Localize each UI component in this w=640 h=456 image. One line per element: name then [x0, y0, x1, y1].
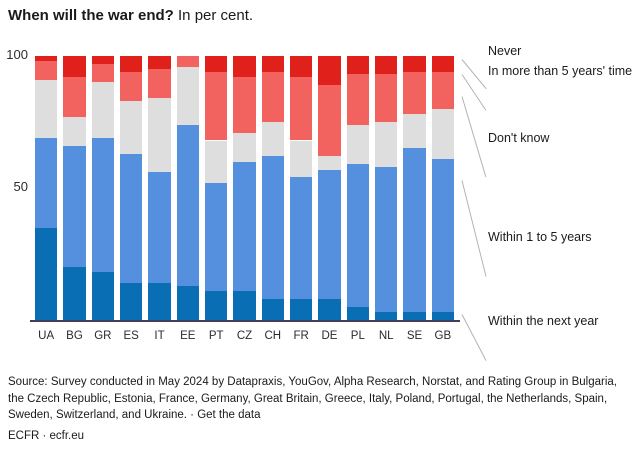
- segment-don-t-know: [318, 156, 341, 169]
- segment-never: [290, 56, 313, 77]
- bar-ua[interactable]: [35, 56, 58, 320]
- segment-within-the-next-year: [92, 272, 115, 320]
- x-tick-gr: GR: [89, 330, 117, 342]
- segment-within-1-to-5-years: [233, 162, 256, 291]
- segment-don-t-know: [233, 133, 256, 162]
- page-title: When will the war end? In per cent.: [8, 6, 253, 26]
- x-tick-ua: UA: [32, 330, 60, 342]
- segment-don-t-know: [347, 125, 370, 165]
- leader-never: [462, 59, 487, 89]
- footer: Source: Survey conducted in May 2024 by …: [8, 374, 634, 444]
- segment-within-the-next-year: [233, 291, 256, 320]
- segment-in-more-than-5-years-time: [432, 72, 455, 109]
- x-tick-se: SE: [400, 330, 428, 342]
- legend-label-more-than-5-years: In more than 5 years' time: [488, 64, 640, 79]
- segment-within-the-next-year: [35, 228, 58, 320]
- x-tick-gb: GB: [429, 330, 457, 342]
- segment-within-1-to-5-years: [35, 138, 58, 228]
- footer-brand: ECFR · ecfr.eu: [8, 428, 634, 445]
- segment-within-the-next-year: [432, 312, 455, 320]
- segment-never: [233, 56, 256, 77]
- leader-within-1-to-5-years: [462, 180, 487, 276]
- segment-within-1-to-5-years: [432, 159, 455, 312]
- x-tick-de: DE: [315, 330, 343, 342]
- segment-within-1-to-5-years: [205, 183, 228, 291]
- segment-within-1-to-5-years: [63, 146, 86, 267]
- segment-within-1-to-5-years: [92, 138, 115, 273]
- bar-se[interactable]: [403, 56, 426, 320]
- segment-never: [375, 56, 398, 74]
- x-tick-it: IT: [145, 330, 173, 342]
- segment-within-the-next-year: [403, 312, 426, 320]
- segment-never: [92, 56, 115, 64]
- segment-in-more-than-5-years-time: [290, 77, 313, 140]
- segment-don-t-know: [403, 114, 426, 148]
- title-subtitle: In per cent.: [178, 7, 253, 24]
- segment-within-1-to-5-years: [403, 148, 426, 312]
- segment-in-more-than-5-years-time: [177, 56, 200, 67]
- segment-don-t-know: [63, 117, 86, 146]
- x-axis: UABGGRESITEEPTCZCHFRDEPLNLSEGB: [32, 330, 457, 350]
- segment-never: [205, 56, 228, 72]
- segment-never: [120, 56, 143, 72]
- segment-within-the-next-year: [148, 283, 171, 320]
- segment-within-1-to-5-years: [148, 172, 171, 283]
- bar-cz[interactable]: [233, 56, 256, 320]
- segment-in-more-than-5-years-time: [375, 74, 398, 122]
- legend-label-within-1-to-5-years: Within 1 to 5 years: [488, 230, 640, 245]
- chart-root: When will the war end? In per cent. 1005…: [0, 0, 640, 456]
- x-tick-nl: NL: [372, 330, 400, 342]
- y-tick-100: 100: [6, 47, 28, 62]
- segment-within-the-next-year: [318, 299, 341, 320]
- bar-pt[interactable]: [205, 56, 228, 320]
- segment-don-t-know: [35, 80, 58, 138]
- segment-within-the-next-year: [205, 291, 228, 320]
- bar-ch[interactable]: [262, 56, 285, 320]
- legend-label-never: Never: [488, 44, 640, 59]
- plot-area: [32, 56, 457, 320]
- bar-ee[interactable]: [177, 56, 200, 320]
- x-tick-pl: PL: [344, 330, 372, 342]
- x-axis-line: [30, 320, 460, 322]
- segment-don-t-know: [205, 141, 228, 183]
- segment-within-1-to-5-years: [120, 154, 143, 283]
- segment-within-the-next-year: [120, 283, 143, 320]
- segment-never: [318, 56, 341, 85]
- segment-within-the-next-year: [347, 307, 370, 320]
- segment-never: [262, 56, 285, 72]
- segment-within-the-next-year: [262, 299, 285, 320]
- x-tick-ee: EE: [174, 330, 202, 342]
- segment-within-the-next-year: [290, 299, 313, 320]
- footer-source: Source: Survey conducted in May 2024 by …: [8, 374, 634, 424]
- bar-de[interactable]: [318, 56, 341, 320]
- bar-bg[interactable]: [63, 56, 86, 320]
- legend-label-dont-know: Don't know: [488, 131, 640, 146]
- segment-never: [35, 56, 58, 61]
- legend: Never In more than 5 years' time Don't k…: [462, 40, 640, 340]
- segment-within-the-next-year: [63, 267, 86, 320]
- segment-within-1-to-5-years: [290, 177, 313, 298]
- bar-nl[interactable]: [375, 56, 398, 320]
- title-question: When will the war end?: [8, 7, 174, 24]
- segment-don-t-know: [290, 141, 313, 178]
- segment-never: [347, 56, 370, 74]
- bar-gb[interactable]: [432, 56, 455, 320]
- segment-in-more-than-5-years-time: [35, 61, 58, 79]
- bar-it[interactable]: [148, 56, 171, 320]
- segment-in-more-than-5-years-time: [403, 72, 426, 114]
- segment-don-t-know: [432, 109, 455, 159]
- segment-within-1-to-5-years: [347, 164, 370, 307]
- leader-within-next-year: [462, 314, 487, 360]
- segment-don-t-know: [177, 67, 200, 125]
- segment-within-1-to-5-years: [375, 167, 398, 312]
- segment-in-more-than-5-years-time: [205, 72, 228, 141]
- segment-don-t-know: [92, 82, 115, 137]
- segment-in-more-than-5-years-time: [92, 64, 115, 82]
- bar-gr[interactable]: [92, 56, 115, 320]
- segment-don-t-know: [120, 101, 143, 154]
- segment-within-the-next-year: [375, 312, 398, 320]
- segment-within-1-to-5-years: [318, 170, 341, 299]
- segment-within-1-to-5-years: [177, 125, 200, 286]
- segment-never: [403, 56, 426, 72]
- bar-pl[interactable]: [347, 56, 370, 320]
- segment-don-t-know: [375, 122, 398, 167]
- segment-within-1-to-5-years: [262, 156, 285, 299]
- x-tick-ch: CH: [259, 330, 287, 342]
- segment-in-more-than-5-years-time: [318, 85, 341, 156]
- segment-in-more-than-5-years-time: [148, 69, 171, 98]
- segment-in-more-than-5-years-time: [233, 77, 256, 132]
- x-tick-bg: BG: [60, 330, 88, 342]
- x-tick-es: ES: [117, 330, 145, 342]
- leader-dont-know: [462, 96, 487, 177]
- y-tick-50: 50: [14, 179, 28, 194]
- segment-in-more-than-5-years-time: [347, 74, 370, 124]
- segment-never: [63, 56, 86, 77]
- segment-don-t-know: [148, 98, 171, 172]
- legend-label-within-next-year: Within the next year: [488, 314, 640, 329]
- segment-in-more-than-5-years-time: [120, 72, 143, 101]
- x-tick-fr: FR: [287, 330, 315, 342]
- bar-es[interactable]: [120, 56, 143, 320]
- segment-never: [432, 56, 455, 72]
- segment-don-t-know: [262, 122, 285, 156]
- bar-fr[interactable]: [290, 56, 313, 320]
- segment-never: [148, 56, 171, 69]
- segment-in-more-than-5-years-time: [262, 72, 285, 122]
- x-tick-cz: CZ: [230, 330, 258, 342]
- segment-within-the-next-year: [177, 286, 200, 320]
- segment-in-more-than-5-years-time: [63, 77, 86, 117]
- x-tick-pt: PT: [202, 330, 230, 342]
